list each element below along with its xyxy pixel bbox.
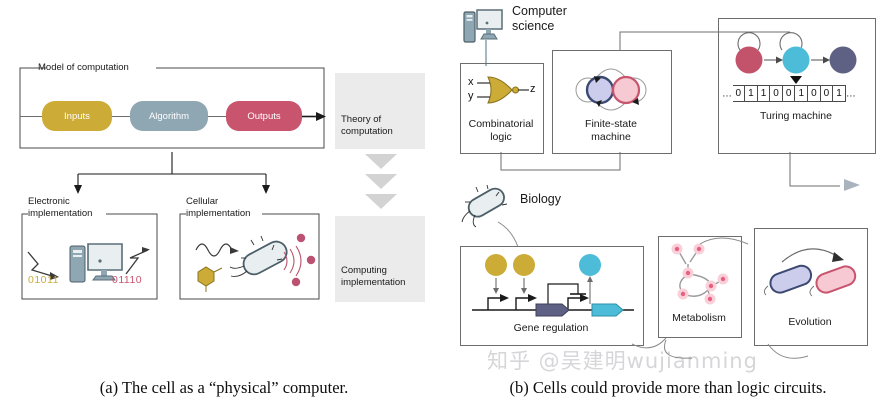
electronic-implementation-label: Electronic implementation xyxy=(28,196,92,219)
panel-b: Computer science x y z Combinatorial log… xyxy=(452,0,884,372)
layer-chevrons xyxy=(355,152,407,214)
pipeline-output-arrow xyxy=(302,110,330,123)
model-of-computation-label: Model of computation xyxy=(38,62,129,74)
cellular-implementation-art xyxy=(184,228,318,298)
pipeline-pill-outputs-label: Outputs xyxy=(247,111,280,122)
panel-b-caption: (b) Cells could provide more than logic … xyxy=(452,378,884,398)
pipeline-line-left xyxy=(20,116,42,117)
cs-box-connectors xyxy=(460,18,880,198)
figure-root: Theory of computation Computing implemen… xyxy=(0,0,884,406)
layer-block-theory xyxy=(335,73,425,149)
section-label-biology: Biology xyxy=(520,192,561,207)
pipeline-line-mid2 xyxy=(208,116,226,117)
layer-block-computing xyxy=(335,216,425,302)
pipeline-pill-inputs-label: Inputs xyxy=(64,111,90,122)
branch-connector xyxy=(16,152,328,198)
panel-a: Theory of computation Computing implemen… xyxy=(0,0,448,372)
panel-a-caption: (a) The cell as a “physical” computer. xyxy=(0,378,448,398)
pipeline-pill-inputs[interactable]: Inputs xyxy=(42,101,112,131)
binary-input-label: 01011 xyxy=(28,274,59,286)
pipeline-pill-outputs[interactable]: Outputs xyxy=(226,101,302,131)
pipeline-pill-algorithm[interactable]: Algorithm xyxy=(130,101,208,131)
pipeline-pill-algorithm-label: Algorithm xyxy=(149,111,189,122)
cellular-implementation-label: Cellular implementation xyxy=(186,196,250,219)
cs-to-biology-arrow xyxy=(842,177,870,193)
pipeline-line-mid1 xyxy=(112,116,130,117)
watermark: 知乎 @吴建明wujianming xyxy=(487,345,758,375)
binary-output-label: 01110 xyxy=(112,274,142,286)
layer-label-computing: Computing implementation xyxy=(341,265,427,288)
layer-label-theory: Theory of computation xyxy=(341,114,427,137)
